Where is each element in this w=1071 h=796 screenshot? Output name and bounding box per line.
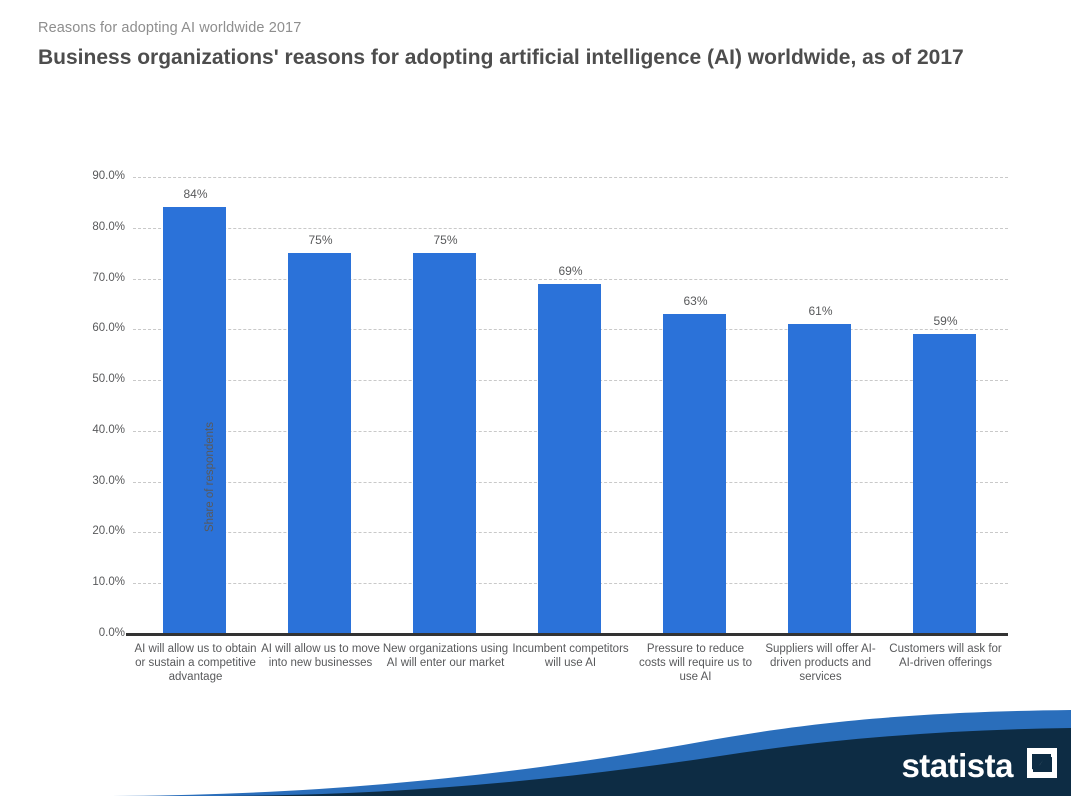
- x-axis-category-label: Customers will ask for AI-driven offerin…: [882, 642, 1009, 670]
- bar-value-label: 69%: [508, 264, 633, 278]
- statista-wordmark: statista: [901, 749, 1013, 782]
- bar-group: 59%Customers will ask for AI-driven offe…: [883, 177, 1008, 634]
- x-axis-line: [126, 633, 1008, 636]
- y-axis-tick-label: 60.0%: [55, 323, 125, 334]
- y-axis-title: Share of respondents: [204, 367, 216, 587]
- bar[interactable]: [288, 253, 351, 634]
- x-axis-category-label: Incumbent competitors will use AI: [507, 642, 634, 670]
- x-axis-category-label: Pressure to reduce costs will require us…: [632, 642, 759, 684]
- statista-footer: statista: [0, 700, 1071, 796]
- x-axis-category-label: AI will allow us to move into new busine…: [257, 642, 384, 670]
- bar-group: 84%AI will allow us to obtain or sustain…: [133, 177, 258, 634]
- bar-group: 61%Suppliers will offer AI-driven produc…: [758, 177, 883, 634]
- bar-chart: 90.0%80.0%70.0%60.0%50.0%40.0%30.0%20.0%…: [0, 0, 1071, 720]
- statista-s-mark-icon: [1027, 748, 1057, 778]
- bar-group: 63%Pressure to reduce costs will require…: [633, 177, 758, 634]
- bar[interactable]: [663, 314, 726, 634]
- y-axis-tick-label: 0.0%: [55, 628, 125, 639]
- bar-value-label: 75%: [383, 233, 508, 247]
- y-axis-tick-label: 30.0%: [55, 476, 125, 487]
- x-axis-category-label: New organizations using AI will enter ou…: [382, 642, 509, 670]
- y-axis-tick-label: 20.0%: [55, 526, 125, 537]
- bar-value-label: 75%: [258, 233, 383, 247]
- bar[interactable]: [413, 253, 476, 634]
- bar[interactable]: [913, 334, 976, 634]
- y-axis-tick-label: 90.0%: [55, 171, 125, 182]
- bar-value-label: 59%: [883, 314, 1008, 328]
- y-axis-tick-label: 50.0%: [55, 374, 125, 385]
- y-axis-tick-label: 10.0%: [55, 577, 125, 588]
- bar-group: 69%Incumbent competitors will use AI: [508, 177, 633, 634]
- bar-group: 75%AI will allow us to move into new bus…: [258, 177, 383, 634]
- y-axis-tick-labels: 90.0%80.0%70.0%60.0%50.0%40.0%30.0%20.0%…: [53, 177, 125, 634]
- y-axis-tick-label: 70.0%: [55, 273, 125, 284]
- y-axis-tick-label: 80.0%: [55, 222, 125, 233]
- bar[interactable]: [163, 207, 226, 634]
- bar[interactable]: [788, 324, 851, 634]
- bar-value-label: 61%: [758, 304, 883, 318]
- bar-group: 75%New organizations using AI will enter…: [383, 177, 508, 634]
- bar-value-label: 84%: [133, 187, 258, 201]
- x-axis-category-label: AI will allow us to obtain or sustain a …: [132, 642, 259, 684]
- bar[interactable]: [538, 284, 601, 634]
- x-axis-category-label: Suppliers will offer AI-driven products …: [757, 642, 884, 684]
- plot-area: 84%AI will allow us to obtain or sustain…: [133, 177, 1008, 634]
- y-axis-tick-label: 40.0%: [55, 425, 125, 436]
- bar-value-label: 63%: [633, 294, 758, 308]
